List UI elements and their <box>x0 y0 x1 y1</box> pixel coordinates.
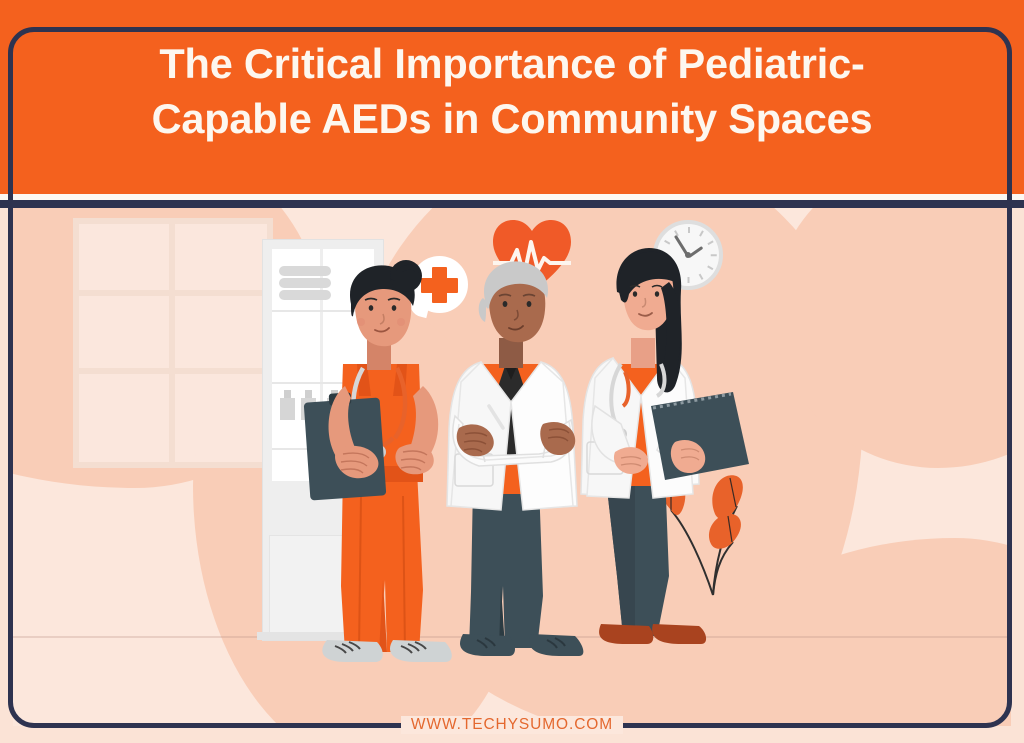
footer-website-label[interactable]: WWW.TECHYSUMO.COM <box>401 716 623 734</box>
poster-canvas: The Critical Importance of Pediatric- Ca… <box>0 0 1024 743</box>
illustration-scene <box>13 208 1011 726</box>
nurse-orange-scrubs <box>301 260 481 670</box>
window-panel <box>73 218 273 468</box>
page-title: The Critical Importance of Pediatric- Ca… <box>60 36 964 146</box>
footer-website: WWW.TECHYSUMO.COM <box>0 716 1024 734</box>
header-divider-bar <box>0 200 1024 208</box>
